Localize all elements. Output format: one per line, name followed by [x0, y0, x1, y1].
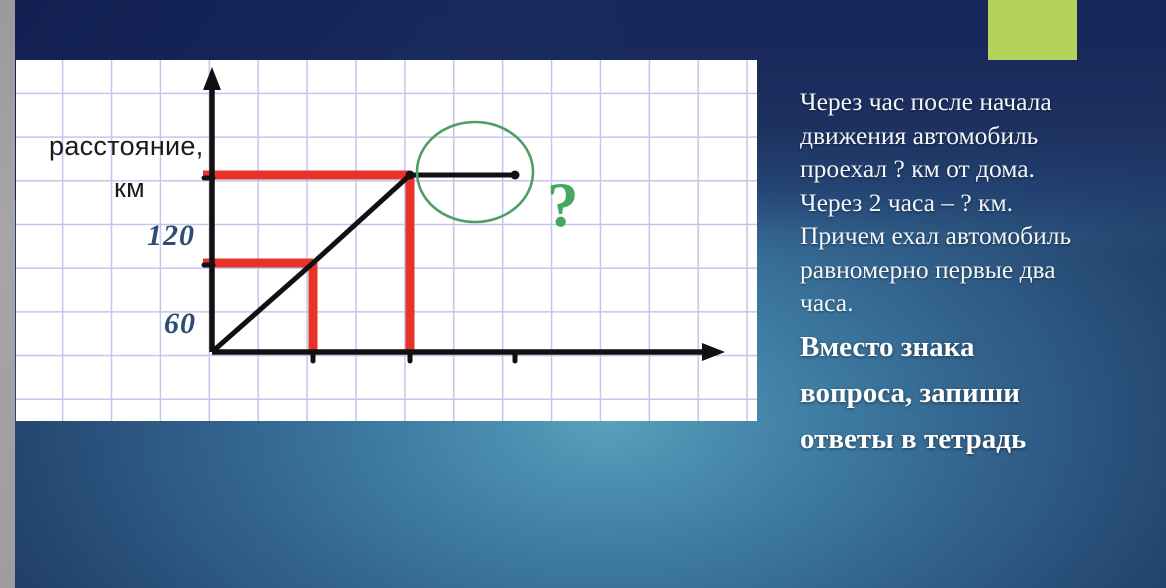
instruction-line: вопроса, запиши — [800, 377, 1020, 409]
chart-card: расстояние, км время, ч 120 60 0 1 2 3 ? — [16, 60, 757, 421]
chart-plot — [16, 60, 757, 421]
problem-line: проехал ? км от дома. — [800, 154, 1035, 183]
problem-line: движения автомобиль — [800, 121, 1038, 150]
axis-ticks — [204, 178, 515, 361]
question-mark-annotation: ? — [547, 174, 579, 237]
x-axis-arrowhead — [702, 343, 725, 361]
axes — [212, 78, 714, 352]
y-axis-title-line2: км — [114, 175, 145, 202]
y-axis-title-line1: расстояние, — [49, 133, 204, 160]
problem-line: Через 2 часа – ? км. — [800, 188, 1013, 217]
data-point-3h — [511, 171, 520, 180]
green-accent-rectangle — [988, 0, 1077, 60]
text-panel: Через час после начала движения автомоби… — [800, 85, 1150, 462]
problem-line: часа. — [800, 288, 853, 317]
problem-line: Причем ехал автомобиль — [800, 221, 1071, 250]
y-tick-label-120: 120 — [147, 221, 195, 251]
left-edge-strip — [0, 0, 15, 588]
slide-root: расстояние, км время, ч 120 60 0 1 2 3 ?… — [0, 0, 1166, 588]
problem-statement: Через час после начала движения автомоби… — [800, 85, 1150, 320]
data-point-2h — [406, 171, 415, 180]
instruction-line: Вместо знака — [800, 331, 974, 363]
instruction-statement: Вместо знака вопроса, запиши ответы в те… — [800, 324, 1150, 462]
problem-line: Через час после начала — [800, 87, 1052, 116]
instruction-line: ответы в тетрадь — [800, 423, 1026, 455]
y-tick-label-60: 60 — [164, 309, 196, 339]
problem-line: равномерно первые два — [800, 255, 1056, 284]
y-axis-arrowhead — [203, 67, 221, 90]
